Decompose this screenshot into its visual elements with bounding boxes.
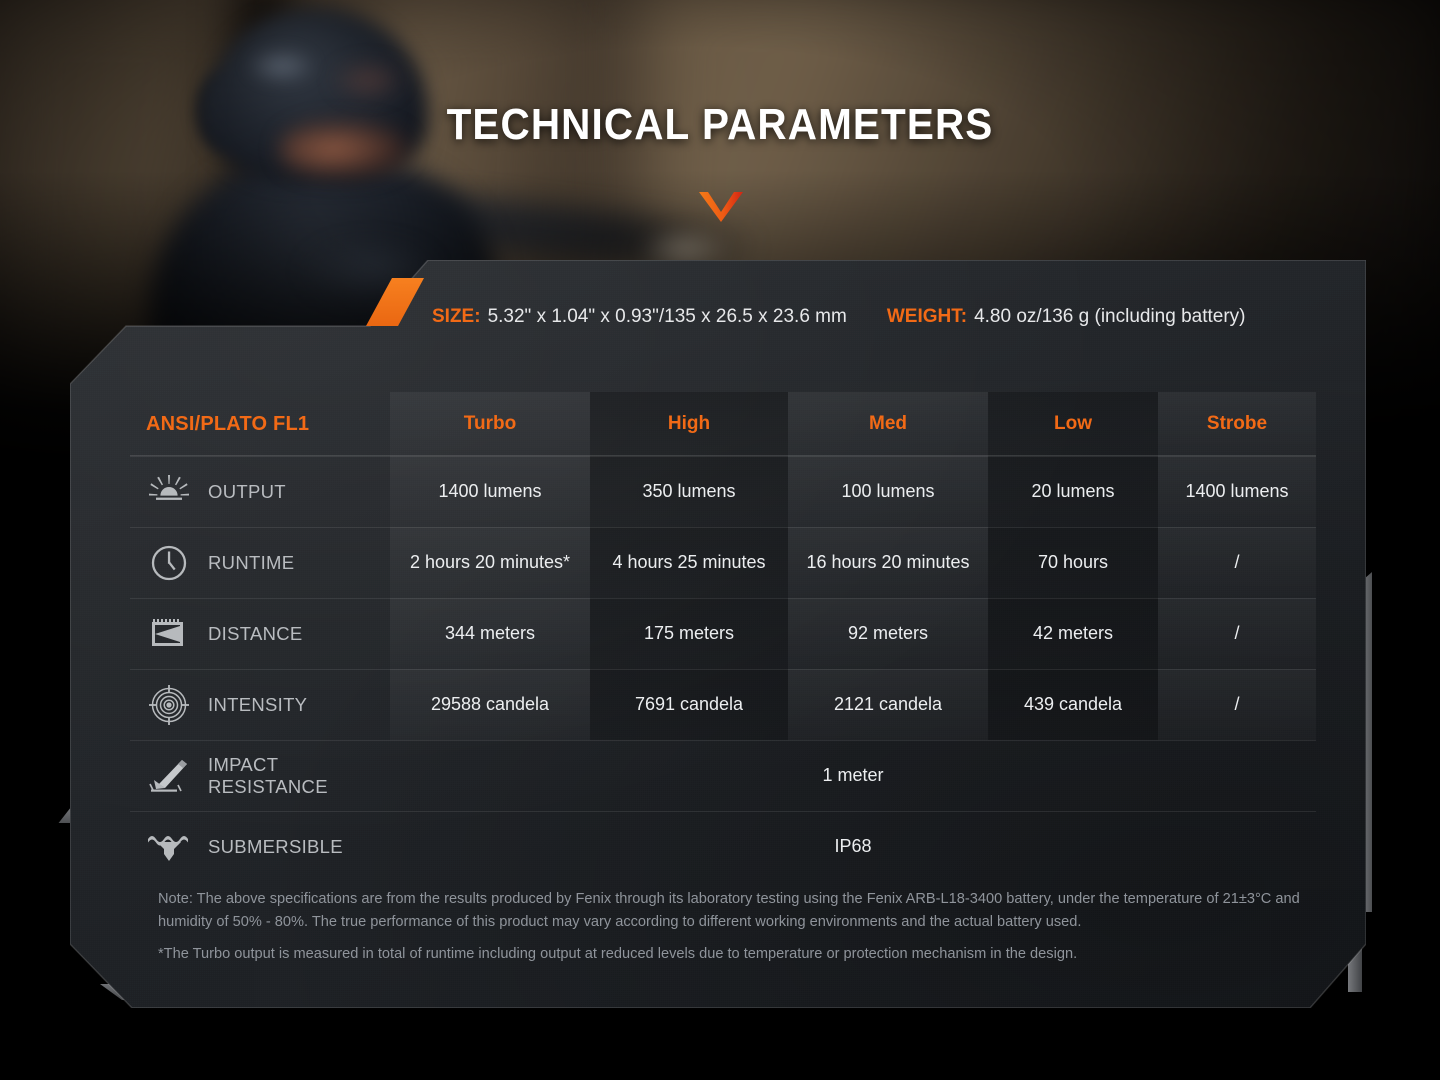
size-value: 5.32" x 1.04" x 0.93"/135 x 26.5 x 23.6 … [488, 306, 847, 328]
cell-intensity-strobe: / [1158, 669, 1316, 740]
table-corner-header: ANSI/PLATO FL1 [130, 392, 390, 456]
table-row: DISTANCE 344 meters 175 meters 92 meters… [130, 598, 1316, 669]
cell-output-strobe: 1400 lumens [1158, 456, 1316, 527]
chevron-down-icon [699, 192, 743, 222]
table-header-row: ANSI/PLATO FL1 Turbo High Med Low Strobe [130, 392, 1316, 456]
weight-label: WEIGHT: [887, 306, 967, 328]
column-header-turbo: Turbo [390, 392, 590, 456]
row-label-output: OUTPUT [130, 456, 390, 527]
sunburst-icon [146, 472, 192, 512]
cell-intensity-high: 7691 candela [590, 669, 788, 740]
cell-impact-resistance-value: 1 meter [390, 740, 1316, 811]
footnote-paragraph-2: *The Turbo output is measured in total o… [158, 943, 1308, 966]
cell-intensity-turbo: 29588 candela [390, 669, 590, 740]
cell-intensity-med: 2121 candela [788, 669, 988, 740]
cell-runtime-low: 70 hours [988, 527, 1158, 598]
cell-submersible-value: IP68 [390, 811, 1316, 882]
cell-distance-med: 92 meters [788, 598, 988, 669]
cell-output-high: 350 lumens [590, 456, 788, 527]
cell-distance-turbo: 344 meters [390, 598, 590, 669]
cell-runtime-strobe: / [1158, 527, 1316, 598]
page-title: TECHNICAL PARAMETERS [58, 100, 1383, 150]
cell-output-med: 100 lumens [788, 456, 988, 527]
cell-runtime-high: 4 hours 25 minutes [590, 527, 788, 598]
column-header-low: Low [988, 392, 1158, 456]
row-label-intensity: INTENSITY [130, 669, 390, 740]
table-row: OUTPUT 1400 lumens 350 lumens 100 lumens… [130, 456, 1316, 527]
table-row: IMPACT RESISTANCE 1 meter [130, 740, 1316, 811]
size-weight-bar: SIZE: 5.32" x 1.04" x 0.93"/135 x 26.5 x… [432, 300, 1332, 334]
footnote-block: Note: The above specifications are from … [158, 888, 1308, 966]
water-waves-icon [146, 827, 192, 867]
spec-table: ANSI/PLATO FL1 Turbo High Med Low Strobe [130, 392, 1316, 882]
cell-output-turbo: 1400 lumens [390, 456, 590, 527]
row-label-submersible: SUBMERSIBLE [130, 811, 390, 882]
column-header-strobe: Strobe [1158, 392, 1316, 456]
cell-intensity-low: 439 candela [988, 669, 1158, 740]
impact-hammer-icon [146, 756, 192, 796]
product-spec-page: TECHNICAL PARAMETERS SIZE: [0, 0, 1440, 1080]
cell-distance-high: 175 meters [590, 598, 788, 669]
table-row: SUBMERSIBLE IP68 [130, 811, 1316, 882]
table-row: INTENSITY 29588 candela 7691 candela 212… [130, 669, 1316, 740]
target-radar-icon [146, 685, 192, 725]
footnote-paragraph-1: Note: The above specifications are from … [158, 888, 1308, 933]
weight-value: 4.80 oz/136 g (including battery) [974, 306, 1245, 328]
table-row: RUNTIME 2 hours 20 minutes* 4 hours 25 m… [130, 527, 1316, 598]
row-label-distance: DISTANCE [130, 598, 390, 669]
row-label-runtime: RUNTIME [130, 527, 390, 598]
row-label-impact-resistance: IMPACT RESISTANCE [130, 740, 390, 811]
size-label: SIZE: [432, 306, 481, 328]
column-header-med: Med [788, 392, 988, 456]
beam-ruler-icon [146, 614, 192, 654]
cell-distance-strobe: / [1158, 598, 1316, 669]
column-header-high: High [590, 392, 788, 456]
cell-runtime-turbo: 2 hours 20 minutes* [390, 527, 590, 598]
clock-icon [146, 543, 192, 583]
cell-runtime-med: 16 hours 20 minutes [788, 527, 988, 598]
cell-distance-low: 42 meters [988, 598, 1158, 669]
cell-output-low: 20 lumens [988, 456, 1158, 527]
